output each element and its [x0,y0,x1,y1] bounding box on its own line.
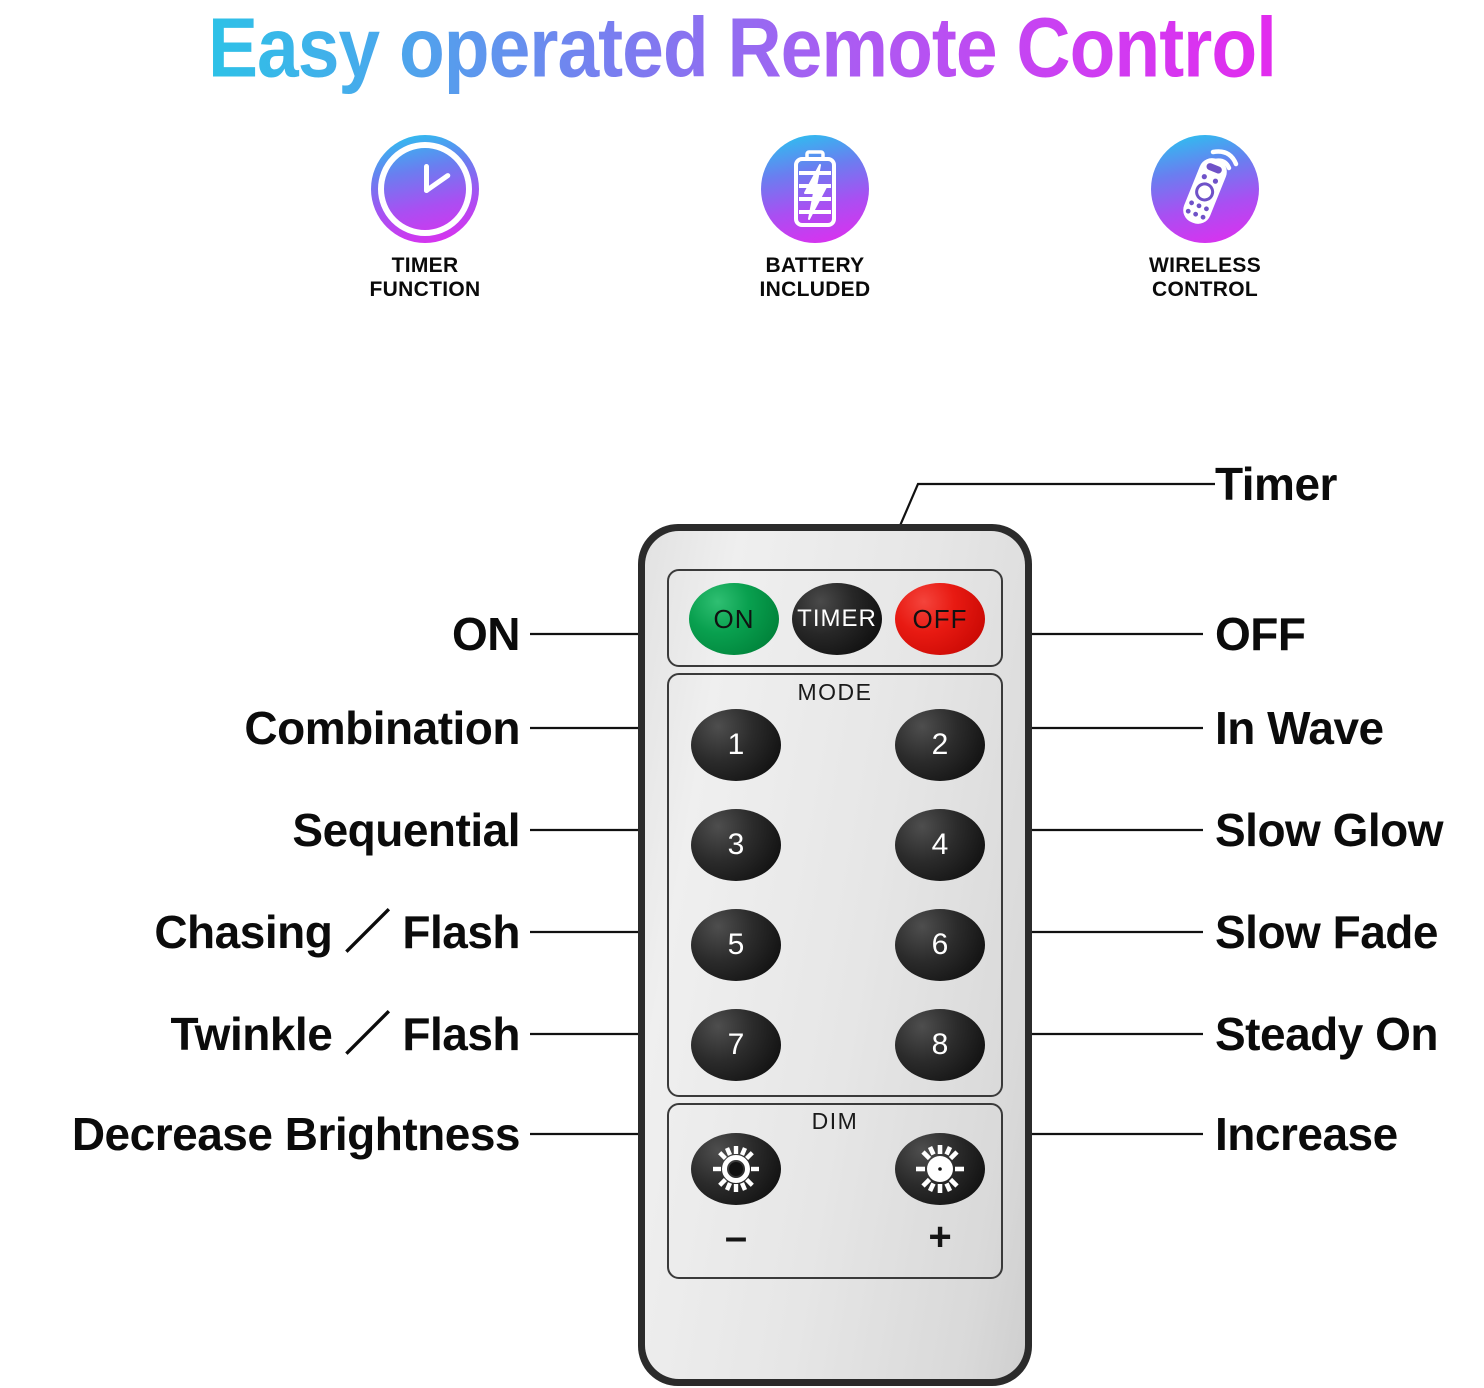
battery-icon [761,135,869,243]
callout-slow-glow: Slow Glow [1215,804,1443,856]
off-button[interactable]: OFF [895,583,985,655]
mode-button-3[interactable]: 3 [691,809,781,881]
sun-hollow-icon [910,1139,970,1199]
mode-button-2[interactable]: 2 [895,709,985,781]
callout-increase: Increase [1215,1108,1398,1160]
mode-button-1[interactable]: 1 [691,709,781,781]
callout-twinkle-flash: Twinkle ／ Flash [0,1008,520,1060]
feature-battery-included: BATTERY INCLUDED [690,135,940,315]
page-title: Easy operated Remote Control [0,0,1484,99]
mode-section-title: MODE [669,679,1001,706]
feature-wireless-control: WIRELESS CONTROL [1080,135,1330,315]
mode-button-4[interactable]: 4 [895,809,985,881]
mode-button-label: 1 [728,728,745,762]
callout-on: ON [0,608,520,660]
callout-chasing-flash: Chasing ／ Flash [0,906,520,958]
remote-control-device: ON TIMER OFF MODE 1 2 3 4 5 6 7 8 [638,524,1032,1386]
mode-button-label: 3 [728,828,745,862]
callout-off: OFF [1215,608,1305,660]
dim-increase-sign: + [895,1217,985,1257]
feature-timer-function: TIMER FUNCTION [300,135,550,315]
on-button-label: ON [714,604,755,635]
dim-decrease-button[interactable] [691,1133,781,1205]
mode-button-6[interactable]: 6 [895,909,985,981]
on-button[interactable]: ON [689,583,779,655]
feature-badge-row: TIMER FUNCTION BATTERY INCLUDED [300,135,1330,315]
dim-panel: DIM [667,1103,1003,1279]
callout-slow-fade: Slow Fade [1215,906,1438,958]
feature-label: BATTERY INCLUDED [760,254,871,302]
mode-button-label: 2 [932,728,949,762]
mode-button-label: 5 [728,928,745,962]
callout-timer: Timer [1215,458,1337,510]
mode-button-label: 7 [728,1028,745,1062]
dim-section-title: DIM [669,1108,1001,1135]
mode-button-5[interactable]: 5 [691,909,781,981]
power-panel: ON TIMER OFF [667,569,1003,667]
dim-decrease-sign: – [691,1217,781,1257]
callout-combination: Combination [0,702,520,754]
mode-button-label: 4 [932,828,949,862]
sun-filled-icon [706,1139,766,1199]
callout-decrease-brightness: Decrease Brightness [0,1108,520,1160]
callout-in-wave: In Wave [1215,702,1384,754]
mode-button-8[interactable]: 8 [895,1009,985,1081]
mode-button-7[interactable]: 7 [691,1009,781,1081]
mode-button-label: 6 [932,928,949,962]
clock-icon [371,135,479,243]
off-button-label: OFF [913,604,968,635]
timer-button[interactable]: TIMER [792,583,882,655]
feature-label: WIRELESS CONTROL [1149,254,1261,302]
timer-button-label: TIMER [797,605,877,633]
callout-steady-on: Steady On [1215,1008,1438,1060]
remote-icon [1151,135,1259,243]
infographic-canvas: Easy operated Remote Control TIMER FUNCT… [0,0,1484,1388]
mode-button-label: 8 [932,1028,949,1062]
feature-label: TIMER FUNCTION [370,254,481,302]
callout-sequential: Sequential [0,804,520,856]
dim-increase-button[interactable] [895,1133,985,1205]
mode-panel: MODE 1 2 3 4 5 6 7 8 [667,673,1003,1097]
